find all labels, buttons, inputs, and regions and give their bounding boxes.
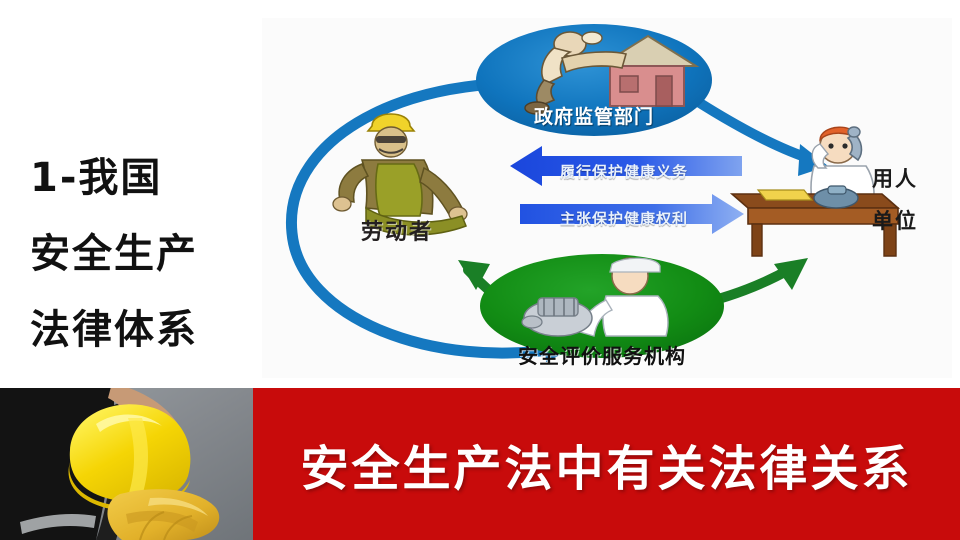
slide-root: 1-我国 安全生产 法律体系 [0, 0, 960, 540]
hardhat-photo-graphic [0, 388, 253, 540]
red-banner: 安全生产法中有关法律关系 [253, 388, 960, 540]
relationship-diagram: 政府监管部门 劳动者 用人 单位 安全评价服务机构 履行保护健康义务 主张保护健… [262, 18, 952, 378]
arrow-label-right: 主张保护健康权利 [560, 208, 688, 229]
node-label-employer-line2: 单位 [872, 200, 948, 242]
bottom-strip: 安全生产法中有关法律关系 [0, 388, 960, 540]
page-title: 1-我国 安全生产 法律体系 [18, 140, 253, 368]
node-label-employer: 用人 单位 [872, 158, 948, 242]
arrow-label-duty: 履行保护健康义务 [560, 161, 688, 182]
hardhat-photo [0, 388, 253, 540]
banner-title: 安全生产法中有关法律关系 [300, 429, 912, 499]
node-label-agency: 安全评价服务机构 [467, 340, 737, 369]
node-label-government: 政府监管部门 [505, 102, 683, 129]
node-label-employer-line1: 用人 [872, 158, 948, 200]
node-label-worker: 劳动者 [322, 214, 472, 246]
diagram-graphics [262, 18, 952, 378]
title-line-2: 安全生产 [18, 216, 253, 292]
title-line-1: 1-我国 [18, 140, 253, 216]
title-line-3: 法律体系 [18, 292, 253, 368]
